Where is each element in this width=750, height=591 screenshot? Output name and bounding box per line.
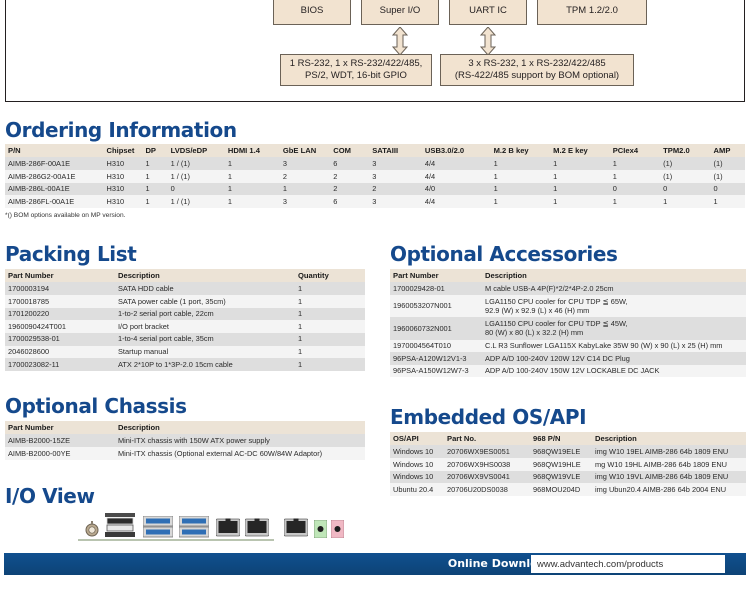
cell-os-api: Windows 10 xyxy=(390,445,444,458)
cell-quantity: 1 xyxy=(295,346,365,359)
table-row: 1700029538-01 1-to-4 serial port cable, … xyxy=(5,333,365,346)
diagram-box-serial-left-line2: PS/2, WDT, 16-bit GPIO xyxy=(305,70,407,82)
cell-gbe: 3 xyxy=(280,195,330,208)
cell-pciex4: 1 xyxy=(610,195,660,208)
table-row: AIMB-286F-00A1E H310 1 1 / (1) 1 3 6 3 4… xyxy=(5,157,745,170)
diagram-box-serial-left-line1: 1 RS-232, 1 x RS-232/422/485, xyxy=(290,58,423,70)
lan-port-2-icon xyxy=(245,518,269,543)
col-chipset: Chipset xyxy=(104,144,143,157)
col-hdmi: HDMI 1.4 xyxy=(225,144,280,157)
cell-968-pn: 968MOU204D xyxy=(530,483,592,496)
cell-description: Mini-ITX chassis with 150W ATX power sup… xyxy=(115,434,365,447)
cell-usb: 4/0 xyxy=(422,183,491,196)
col-gbe-lan: GbE LAN xyxy=(280,144,330,157)
cell-description: Mini-ITX chassis (Optional external AC-D… xyxy=(115,447,365,460)
cell-dp: 1 xyxy=(142,195,167,208)
cell-part-number: 1700029538-01 xyxy=(5,333,115,346)
cell-description: C.L R3 Sunflower LGA115X KabyLake 35W 90… xyxy=(482,340,746,353)
cell-os-api: Ubuntu 20.4 xyxy=(390,483,444,496)
online-download-url-box[interactable]: www.advantech.com/products xyxy=(531,555,725,573)
table-row: 1960053207N001 LGA1150 CPU cooler for CP… xyxy=(390,295,746,317)
col-description: Description xyxy=(115,269,295,282)
cell-m2e: 1 xyxy=(550,183,610,196)
embedded-os-api-table: OS/API Part No. 968 P/N Description Wind… xyxy=(390,432,746,496)
cell-m2e: 1 xyxy=(550,157,610,170)
cell-pn: AIMB-286FL-00A1E xyxy=(5,195,104,208)
cell-pn: AIMB-286G2-00A1E xyxy=(5,170,104,183)
usb-ports-group-2-icon xyxy=(179,516,209,543)
diagram-box-serial-left: 1 RS-232, 1 x RS-232/422/485, PS/2, WDT,… xyxy=(280,54,432,86)
col-os-api: OS/API xyxy=(390,432,444,445)
cell-quantity: 1 xyxy=(295,295,365,308)
audio-line-out-jack-icon xyxy=(314,520,327,543)
cell-part-number: 96PSA-A150W12W7-3 xyxy=(390,365,482,378)
packing-list-heading: Packing List xyxy=(5,242,136,266)
table-row: 1700023082-11 ATX 2*10P to 1*3P-2.0 15cm… xyxy=(5,358,365,371)
col-sataiii: SATAIII xyxy=(369,144,422,157)
cell-part-no: 20706WX9ES0051 xyxy=(444,445,530,458)
col-part-number: Part Number xyxy=(5,421,115,434)
packing-list-table: Part Number Description Quantity 1700003… xyxy=(5,269,365,371)
table-row: 1701200220 1-to-2 serial port cable, 22c… xyxy=(5,308,365,321)
cell-pciex4: 0 xyxy=(610,183,660,196)
table-row: AIMB-B2000-00YE Mini-ITX chassis (Option… xyxy=(5,447,365,460)
cell-com: 6 xyxy=(330,195,369,208)
cell-usb: 4/4 xyxy=(422,170,491,183)
cell-m2b: 1 xyxy=(491,183,551,196)
cell-usb: 4/4 xyxy=(422,157,491,170)
cell-pciex4: 1 xyxy=(610,157,660,170)
cell-description: LGA1150 CPU cooler for CPU TDP ≦ 65W, 92… xyxy=(482,295,746,317)
optional-chassis-heading: Optional Chassis xyxy=(5,394,187,418)
table-row: 1700029428-01 M cable USB-A 4P(F)*2/2*4P… xyxy=(390,282,746,295)
cell-amp: 0 xyxy=(711,183,745,196)
ordering-information-table: P/N Chipset DP LVDS/eDP HDMI 1.4 GbE LAN… xyxy=(5,144,745,208)
cell-description: img W10 19VL AIMB-286 64b 1809 ENU xyxy=(592,471,746,484)
cell-dp: 1 xyxy=(142,157,167,170)
diagram-box-bios: BIOS xyxy=(273,0,351,25)
cell-quantity: 1 xyxy=(295,333,365,346)
cell-tpm: 1 xyxy=(660,195,710,208)
cell-hdmi: 1 xyxy=(225,170,280,183)
lan-port-3-icon xyxy=(284,518,308,543)
cell-tpm: (1) xyxy=(660,170,710,183)
cell-lvds: 1 / (1) xyxy=(168,170,225,183)
cell-part-number: 2046028600 xyxy=(5,346,115,359)
audio-mic-in-jack-icon xyxy=(331,520,344,543)
cell-sata: 3 xyxy=(369,195,422,208)
cell-chipset: H310 xyxy=(104,195,143,208)
col-part-number: Part Number xyxy=(390,269,482,282)
cell-amp: (1) xyxy=(711,170,745,183)
cell-description: ADP A/D 100-240V 120W 12V C14 DC Plug xyxy=(482,352,746,365)
cell-amp: 1 xyxy=(711,195,745,208)
cell-description: 1-to-4 serial port cable, 35cm xyxy=(115,333,295,346)
display-ports-icon xyxy=(105,513,135,544)
table-row: AIMB-286G2-00A1E H310 1 1 / (1) 1 2 2 3 … xyxy=(5,170,745,183)
cell-968-pn: 968QW19VLE xyxy=(530,471,592,484)
cell-dp: 1 xyxy=(142,170,167,183)
col-description: Description xyxy=(482,269,746,282)
cell-description: 1-to-2 serial port cable, 22cm xyxy=(115,308,295,321)
cell-m2b: 1 xyxy=(491,195,551,208)
col-part-number: Part Number xyxy=(5,269,115,282)
arrow-uart-to-com xyxy=(480,27,496,55)
diagram-box-serial-right-line2: (RS-422/485 support by BOM optional) xyxy=(455,70,619,82)
cell-chipset: H310 xyxy=(104,170,143,183)
optional-accessories-heading: Optional Accessories xyxy=(390,242,618,266)
ordering-information-heading: Ordering Information xyxy=(5,118,237,142)
cell-quantity: 1 xyxy=(295,358,365,371)
table-row: 1970004564T010 C.L R3 Sunflower LGA115X … xyxy=(390,340,746,353)
table-row: 1700003194 SATA HDD cable 1 xyxy=(5,282,365,295)
diagram-box-uart-ic-label: UART IC xyxy=(469,5,507,17)
cell-hdmi: 1 xyxy=(225,195,280,208)
diagram-box-tpm-label: TPM 1.2/2.0 xyxy=(566,5,618,17)
cell-sata: 3 xyxy=(369,157,422,170)
cell-hdmi: 1 xyxy=(225,157,280,170)
ps2-port-icon xyxy=(85,521,99,542)
table-row: Windows 10 20706WX9ES0051 968QW19ELE img… xyxy=(390,445,746,458)
diagram-box-bios-label: BIOS xyxy=(301,5,324,17)
table-row: 2046028600 Startup manual 1 xyxy=(5,346,365,359)
table-row: AIMB-286FL-00A1E H310 1 1 / (1) 1 3 6 3 … xyxy=(5,195,745,208)
col-pn: P/N xyxy=(5,144,104,157)
cell-gbe: 1 xyxy=(280,183,330,196)
cell-part-number: 1700003194 xyxy=(5,282,115,295)
io-view-image xyxy=(0,505,380,550)
cell-description: mg W10 19HL AIMB-286 64b 1809 ENU xyxy=(592,458,746,471)
cell-m2e: 1 xyxy=(550,170,610,183)
datasheet-page: BIOS Super I/O UART IC TPM 1.2/2.0 1 RS-… xyxy=(0,0,750,591)
optional-chassis-table: Part Number Description AIMB-B2000-15ZE … xyxy=(5,421,365,460)
diagram-box-tpm: TPM 1.2/2.0 xyxy=(537,0,647,25)
col-com: COM xyxy=(330,144,369,157)
arrow-super-io-to-com xyxy=(392,27,408,55)
optional-accessories-table: Part Number Description 1700029428-01 M … xyxy=(390,269,746,377)
diagram-box-super-io-label: Super I/O xyxy=(380,5,421,17)
block-diagram: BIOS Super I/O UART IC TPM 1.2/2.0 1 RS-… xyxy=(0,0,750,104)
col-description: Description xyxy=(592,432,746,445)
table-header-row: Part Number Description xyxy=(5,421,365,434)
cell-description: img W10 19EL AIMB-286 64b 1809 ENU xyxy=(592,445,746,458)
ordering-footnote: *() BOM options available on MP version. xyxy=(5,212,125,219)
cell-description: SATA power cable (1 port, 35cm) xyxy=(115,295,295,308)
cell-description: Startup manual xyxy=(115,346,295,359)
table-header-row: OS/API Part No. 968 P/N Description xyxy=(390,432,746,445)
cell-os-api: Windows 10 xyxy=(390,471,444,484)
table-header-row: Part Number Description Quantity xyxy=(5,269,365,282)
col-tpm2: TPM2.0 xyxy=(660,144,710,157)
cell-description: ADP A/D 100-240V 150W 12V LOCKABLE DC JA… xyxy=(482,365,746,378)
cell-part-no: 20706U20DS0038 xyxy=(444,483,530,496)
cell-part-no: 20706WX9VS0041 xyxy=(444,471,530,484)
cell-amp: (1) xyxy=(711,157,745,170)
col-m2-b-key: M.2 B key xyxy=(491,144,551,157)
col-description: Description xyxy=(115,421,365,434)
col-quantity: Quantity xyxy=(295,269,365,282)
cell-m2b: 1 xyxy=(491,157,551,170)
cell-description: SATA HDD cable xyxy=(115,282,295,295)
cell-quantity: 1 xyxy=(295,282,365,295)
cell-part-number: AIMB-B2000-15ZE xyxy=(5,434,115,447)
cell-com: 2 xyxy=(330,170,369,183)
cell-tpm: (1) xyxy=(660,157,710,170)
cell-part-number: 1960053207N001 xyxy=(390,295,482,317)
col-968-pn: 968 P/N xyxy=(530,432,592,445)
cell-quantity: 1 xyxy=(295,308,365,321)
table-row: AIMB-B2000-15ZE Mini-ITX chassis with 15… xyxy=(5,434,365,447)
table-row: 1960060732N001 LGA1150 CPU cooler for CP… xyxy=(390,317,746,339)
cell-part-number: 1700018785 xyxy=(5,295,115,308)
table-row: Ubuntu 20.4 20706U20DS0038 968MOU204D im… xyxy=(390,483,746,496)
cell-sata: 2 xyxy=(369,183,422,196)
cell-part-number: AIMB-B2000-00YE xyxy=(5,447,115,460)
diagram-box-super-io: Super I/O xyxy=(361,0,439,25)
cell-hdmi: 1 xyxy=(225,183,280,196)
table-header-row: P/N Chipset DP LVDS/eDP HDMI 1.4 GbE LAN… xyxy=(5,144,745,157)
cell-m2b: 1 xyxy=(491,170,551,183)
table-row: 96PSA-A150W12W7-3 ADP A/D 100-240V 150W … xyxy=(390,365,746,378)
col-usb: USB3.0/2.0 xyxy=(422,144,491,157)
cell-dp: 1 xyxy=(142,183,167,196)
cell-description: LGA1150 CPU cooler for CPU TDP ≦ 45W, 80… xyxy=(482,317,746,339)
col-lvds-edp: LVDS/eDP xyxy=(168,144,225,157)
table-row: AIMB-286L-00A1E H310 1 0 1 1 2 2 4/0 1 1… xyxy=(5,183,745,196)
cell-pn: AIMB-286L-00A1E xyxy=(5,183,104,196)
cell-description: M cable USB-A 4P(F)*2/2*4P-2.0 25cm xyxy=(482,282,746,295)
table-row: 1960090424T001 I/O port bracket 1 xyxy=(5,320,365,333)
cell-lvds: 1 / (1) xyxy=(168,195,225,208)
cell-lvds: 1 / (1) xyxy=(168,157,225,170)
col-pciex4: PCIex4 xyxy=(610,144,660,157)
cell-chipset: H310 xyxy=(104,157,143,170)
embedded-os-api-heading: Embedded OS/API xyxy=(390,405,586,429)
cell-os-api: Windows 10 xyxy=(390,458,444,471)
cell-part-number: 1970004564T010 xyxy=(390,340,482,353)
col-m2-e-key: M.2 E key xyxy=(550,144,610,157)
col-dp: DP xyxy=(142,144,167,157)
cell-com: 2 xyxy=(330,183,369,196)
cell-part-number: 1701200220 xyxy=(5,308,115,321)
table-row: Windows 10 20706WX9HS0038 968QW19HLE mg … xyxy=(390,458,746,471)
cell-pn: AIMB-286F-00A1E xyxy=(5,157,104,170)
usb-ports-group-1-icon xyxy=(143,516,173,543)
cell-gbe: 2 xyxy=(280,170,330,183)
cell-lvds: 0 xyxy=(168,183,225,196)
table-row: 96PSA-A120W12V1-3 ADP A/D 100-240V 120W … xyxy=(390,352,746,365)
diagram-box-uart-ic: UART IC xyxy=(449,0,527,25)
cell-part-number: 96PSA-A120W12V1-3 xyxy=(390,352,482,365)
cell-part-number: 1700029428-01 xyxy=(390,282,482,295)
cell-part-no: 20706WX9HS0038 xyxy=(444,458,530,471)
cell-968-pn: 968QW19HLE xyxy=(530,458,592,471)
cell-tpm: 0 xyxy=(660,183,710,196)
col-part-no: Part No. xyxy=(444,432,530,445)
cell-968-pn: 968QW19ELE xyxy=(530,445,592,458)
table-header-row: Part Number Description xyxy=(390,269,746,282)
lan-port-1-icon xyxy=(216,518,240,543)
cell-quantity: 1 xyxy=(295,320,365,333)
diagram-box-serial-right: 3 x RS-232, 1 x RS-232/422/485 (RS-422/4… xyxy=(440,54,634,86)
cell-part-number: 1700023082-11 xyxy=(5,358,115,371)
table-row: 1700018785 SATA power cable (1 port, 35c… xyxy=(5,295,365,308)
cell-description: ATX 2*10P to 1*3P-2.0 15cm cable xyxy=(115,358,295,371)
cell-part-number: 1960060732N001 xyxy=(390,317,482,339)
col-amp: AMP xyxy=(711,144,745,157)
cell-sata: 3 xyxy=(369,170,422,183)
diagram-box-serial-right-line1: 3 x RS-232, 1 x RS-232/422/485 xyxy=(468,58,605,70)
cell-m2e: 1 xyxy=(550,195,610,208)
cell-description: img Ubun20.4 AIMB-286 64b 2004 ENU xyxy=(592,483,746,496)
cell-pciex4: 1 xyxy=(610,170,660,183)
online-download-url[interactable]: www.advantech.com/products xyxy=(537,559,663,570)
cell-description: I/O port bracket xyxy=(115,320,295,333)
table-row: Windows 10 20706WX9VS0041 968QW19VLE img… xyxy=(390,471,746,484)
cell-part-number: 1960090424T001 xyxy=(5,320,115,333)
cell-com: 6 xyxy=(330,157,369,170)
cell-gbe: 3 xyxy=(280,157,330,170)
cell-usb: 4/4 xyxy=(422,195,491,208)
cell-chipset: H310 xyxy=(104,183,143,196)
